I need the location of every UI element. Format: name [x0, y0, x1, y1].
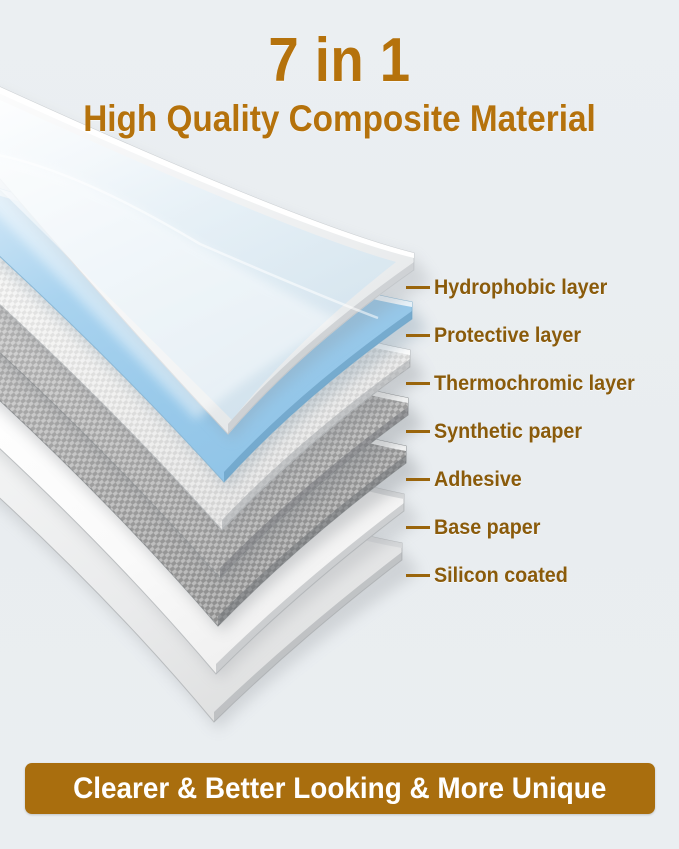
- callout-base-paper[interactable]: Base paper: [406, 517, 547, 538]
- callout-label: Adhesive: [434, 469, 522, 490]
- leader-line-icon: [406, 574, 430, 577]
- callout-label: Protective layer: [434, 325, 581, 346]
- footer-banner-text: Clearer & Better Looking & More Unique: [73, 773, 606, 805]
- callout-hydrophobic-layer[interactable]: Hydrophobic layer: [406, 277, 618, 298]
- callout-label: Hydrophobic layer: [434, 277, 607, 298]
- callout-synthetic-paper[interactable]: Synthetic paper: [406, 421, 592, 442]
- leader-line-icon: [406, 526, 430, 529]
- callout-label: Base paper: [434, 517, 540, 538]
- leader-line-icon: [406, 478, 430, 481]
- callout-adhesive[interactable]: Adhesive: [406, 469, 527, 490]
- callout-list: Hydrophobic layer Protective layer Therm…: [0, 0, 679, 849]
- callout-silicon-coated[interactable]: Silicon coated: [406, 565, 576, 586]
- leader-line-icon: [406, 382, 430, 385]
- leader-line-icon: [406, 334, 430, 337]
- callout-protective-layer[interactable]: Protective layer: [406, 325, 590, 346]
- poster-root: 7 in 1 High Quality Composite Material: [0, 0, 679, 849]
- footer-banner[interactable]: Clearer & Better Looking & More Unique: [25, 763, 655, 814]
- callout-thermochromic-layer[interactable]: Thermochromic layer: [406, 373, 648, 394]
- callout-label: Synthetic paper: [434, 421, 582, 442]
- leader-line-icon: [406, 430, 430, 433]
- callout-label: Silicon coated: [434, 565, 568, 586]
- leader-line-icon: [406, 286, 430, 289]
- callout-label: Thermochromic layer: [434, 373, 635, 394]
